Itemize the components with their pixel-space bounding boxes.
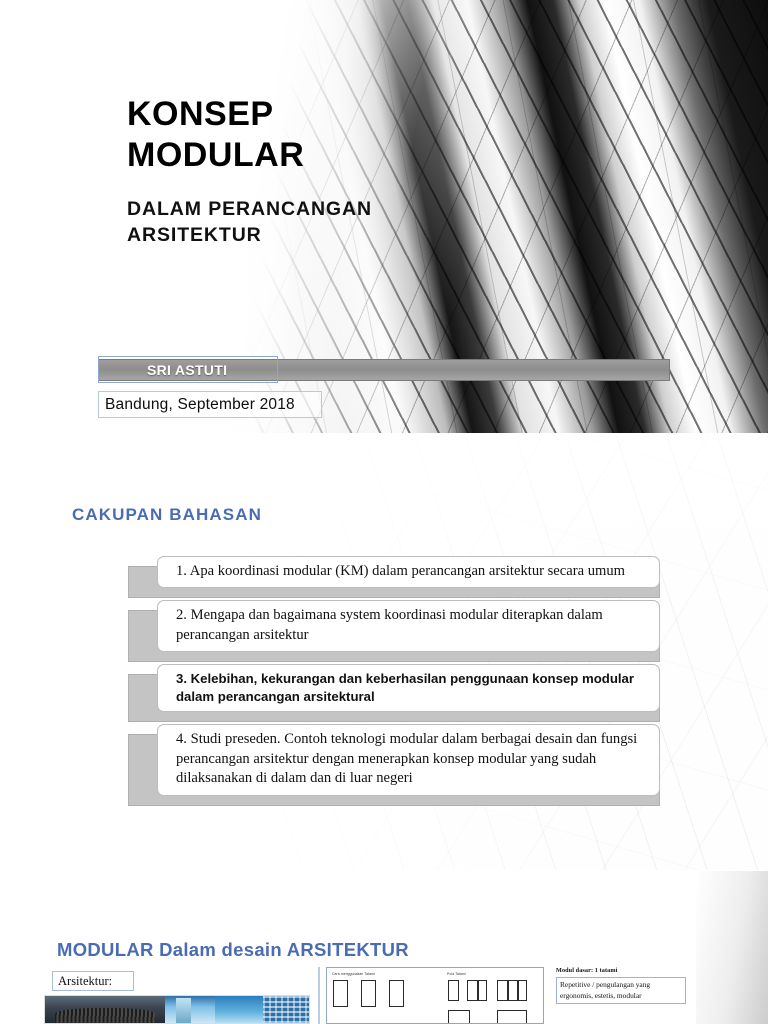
photo-glass-tower	[165, 996, 215, 1023]
list-item: 4. Studi preseden. Contoh teknologi modu…	[128, 724, 660, 795]
list-item: 2. Mengapa dan bagaimana system koordina…	[128, 600, 660, 652]
tatami-cell	[497, 980, 527, 1001]
list-item-text-4: 4. Studi preseden. Contoh teknologi modu…	[157, 724, 660, 795]
section-heading-modular: MODULAR Dalam desain ARSITEKTUR	[57, 939, 409, 961]
arsitektur-label: Arsitektur:	[58, 974, 112, 989]
slide-modular-desain: MODULAR Dalam desain ARSITEKTUR Arsitekt…	[0, 871, 768, 1024]
title-line-2: MODULAR	[127, 136, 304, 174]
tatami-cell	[497, 1010, 527, 1024]
diagram-caption-left: Cara menggunakan Tatami	[332, 972, 375, 976]
architecture-photo-strip	[44, 995, 310, 1024]
slide-cakupan-bahasan: CAKUPAN BAHASAN 1. Apa koordinasi modula…	[0, 434, 768, 870]
arsitektur-label-box: Arsitektur:	[52, 971, 134, 991]
diagram-caption-right: Pola Tatami	[447, 972, 466, 976]
tatami-module-notes: Modul dasar: 1 tatami Repetitive / pengu…	[556, 967, 686, 1004]
date-location-box: Bandung, September 2018	[98, 391, 322, 418]
author-name-box: SRI ASTUTI	[98, 356, 278, 383]
section-heading-cakupan: CAKUPAN BAHASAN	[72, 505, 262, 525]
photo-dark-building	[45, 996, 165, 1023]
subtitle-line-1: DALAM PERANCANGAN	[127, 198, 372, 220]
page-title: KONSEP MODULAR	[127, 94, 547, 177]
vertical-divider	[318, 967, 320, 1024]
scope-list: 1. Apa koordinasi modular (KM) dalam per…	[128, 556, 660, 808]
tatami-cell	[448, 1010, 470, 1024]
list-item-text-1: 1. Apa koordinasi modular (KM) dalam per…	[157, 556, 660, 588]
tatami-cell	[477, 980, 479, 1001]
date-location-text: Bandung, September 2018	[105, 396, 295, 414]
title-line-1: KONSEP	[127, 95, 274, 133]
subtitle-line-2: ARSITEKTUR	[127, 224, 262, 246]
tatami-diagram: Cara menggunakan Tatami Pola Tatami	[326, 967, 544, 1024]
page-subtitle: DALAM PERANCANGAN ARSITEKTUR	[127, 196, 557, 249]
tatami-cell	[507, 980, 509, 1001]
slide-title: KONSEP MODULAR DALAM PERANCANGAN ARSITEK…	[0, 0, 768, 433]
modul-dasar-text: Modul dasar: 1 tatami	[556, 967, 686, 974]
presentation-page: KONSEP MODULAR DALAM PERANCANGAN ARSITEK…	[0, 0, 768, 1024]
tatami-cell	[517, 980, 519, 1001]
tatami-cell	[389, 980, 404, 1007]
photo-blue-sky-tower	[215, 996, 263, 1023]
author-name: SRI ASTUTI	[147, 362, 227, 378]
tatami-cell	[333, 980, 348, 1007]
right-edge-shading	[696, 871, 768, 1024]
list-item-text-3: 3. Kelebihan, kekurangan dan keberhasila…	[157, 664, 660, 712]
list-item-text-2: 2. Mengapa dan bagaimana system koordina…	[157, 600, 660, 652]
repetitive-note-box: Repetitive / pengulangan yang ergonomis,…	[556, 977, 686, 1004]
list-item: 1. Apa koordinasi modular (KM) dalam per…	[128, 556, 660, 588]
photo-modular-facade	[263, 996, 309, 1023]
tatami-cell	[361, 980, 376, 1007]
tatami-cell	[448, 980, 459, 1001]
list-item: 3. Kelebihan, kekurangan dan keberhasila…	[128, 664, 660, 712]
